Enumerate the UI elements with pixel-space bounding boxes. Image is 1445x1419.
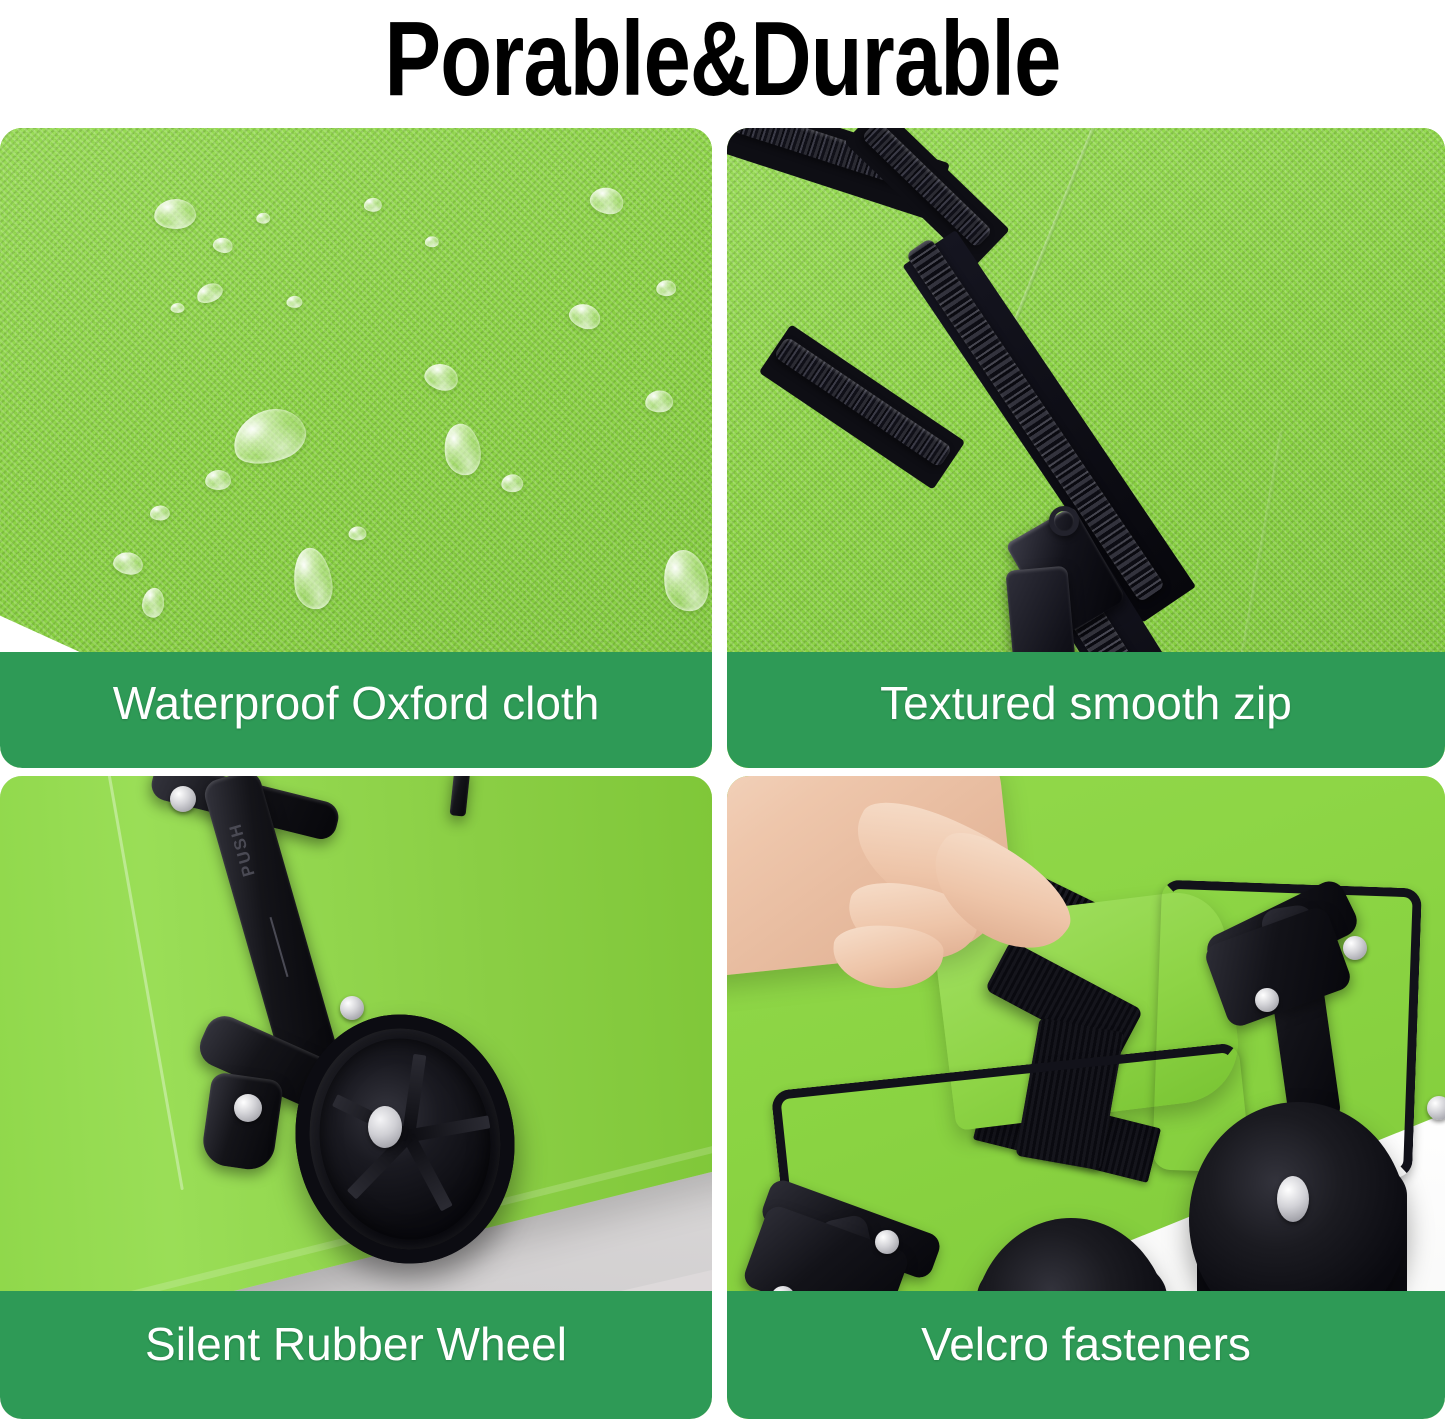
- water-droplet: [286, 296, 302, 308]
- feature-panel-silent-rubber-wheel[interactable]: PUSH Silent Rubber Wheel: [0, 776, 712, 1419]
- water-droplet: [150, 505, 170, 521]
- water-droplet: [170, 303, 184, 313]
- page-title: Porable&Durable: [145, 0, 1301, 118]
- feature-panel-grid: Waterproof Oxford cloth: [0, 128, 1445, 1419]
- water-droplet: [501, 474, 523, 493]
- caption-velcro-fasteners: Velcro fasteners: [727, 1291, 1445, 1419]
- caption-textured-smooth-zip: Textured smooth zip: [727, 652, 1445, 768]
- bracket-rivet: [1343, 936, 1367, 960]
- water-droplet: [364, 198, 382, 212]
- bracket-rivet: [875, 1230, 899, 1254]
- caption-waterproof-oxford-cloth: Waterproof Oxford cloth: [0, 652, 712, 768]
- feature-panel-textured-smooth-zip[interactable]: Textured smooth zip: [727, 128, 1445, 768]
- bracket-rivet: [234, 1094, 262, 1122]
- water-droplet: [154, 198, 197, 229]
- water-droplet: [205, 470, 232, 491]
- water-droplet: [256, 213, 270, 224]
- bag-seam: [106, 776, 184, 1190]
- bracket-rivet: [1427, 1096, 1445, 1120]
- wheel-hub-cap: [368, 1106, 402, 1148]
- product-feature-infographic: Porable&Durable: [0, 0, 1445, 1419]
- water-droplet: [656, 280, 676, 297]
- bracket-rivet: [170, 786, 196, 812]
- water-droplet: [425, 236, 439, 247]
- feature-panel-waterproof-oxford-cloth[interactable]: Waterproof Oxford cloth: [0, 128, 712, 768]
- water-droplet: [645, 390, 674, 413]
- zipper-slider-loop: [1049, 506, 1079, 536]
- wheel-hub-bolt: [1277, 1176, 1309, 1222]
- feature-panel-velcro-fasteners[interactable]: PUSH Velcro fasteners: [727, 776, 1445, 1419]
- water-droplet: [348, 526, 366, 540]
- bracket-rivet: [340, 996, 364, 1020]
- bracket-rivet: [1255, 988, 1279, 1012]
- caption-silent-rubber-wheel: Silent Rubber Wheel: [0, 1291, 712, 1419]
